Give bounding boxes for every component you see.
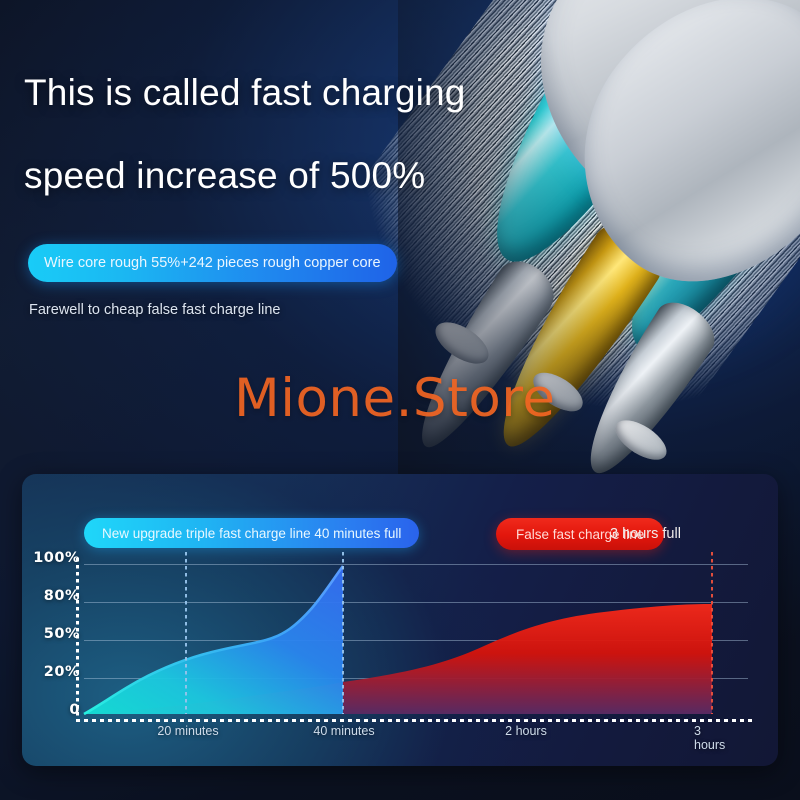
series-blue-area (84, 566, 343, 714)
y-tick-20: 20% (44, 664, 80, 680)
vline-3-hours (711, 552, 713, 714)
headline-line-2: speed increase of 500% (24, 157, 494, 194)
store-watermark: Mione.Store (234, 368, 556, 429)
wire-core-pill: Wire core rough 55%+242 pieces rough cop… (28, 244, 397, 282)
sub-note-text: Farewell to cheap false fast charge line (29, 302, 280, 318)
legend-blue-pill: New upgrade triple fast charge line 40 m… (84, 518, 419, 548)
x-tick-20-minutes: 20 minutes (157, 724, 218, 738)
vline-40-minutes (342, 552, 344, 714)
chart-areas (84, 564, 748, 714)
promo-banner: This is called fast charging speed incre… (0, 0, 800, 800)
cut-tip-left (429, 314, 496, 372)
headline-block: This is called fast charging speed incre… (24, 74, 494, 194)
silver-conductor-left (398, 252, 564, 462)
headline-line-1: This is called fast charging (24, 74, 494, 111)
x-tick-3-hours: 3 hours (694, 724, 730, 752)
x-tick-2-hours: 2 hours (505, 724, 547, 738)
x-axis-dotted (76, 719, 752, 722)
cable-outer-jacket (484, 0, 800, 292)
legend-red-overlap-label: 3 hours full (610, 526, 681, 542)
y-tick-80: 80% (44, 588, 80, 604)
y-axis-labels: 100% 80% 50% 20% 0 (32, 558, 80, 718)
y-tick-50: 50% (44, 626, 80, 642)
silver-conductor-right (566, 293, 725, 488)
teal-cable-core-right (593, 67, 800, 374)
vline-20-minutes (185, 552, 187, 714)
cable-inner-jacket (528, 0, 800, 333)
charging-comparison-chart: New upgrade triple fast charge line 40 m… (22, 474, 778, 766)
plot-area: 20 minutes 40 minutes 2 hours 3 hours (84, 564, 748, 714)
y-axis-dotted (76, 558, 79, 720)
cut-tip-right (609, 412, 673, 467)
x-tick-40-minutes: 40 minutes (313, 724, 374, 738)
y-tick-100: 100% (33, 550, 80, 566)
legend-red-pill: False fast charge line 3 hours full (496, 518, 664, 550)
